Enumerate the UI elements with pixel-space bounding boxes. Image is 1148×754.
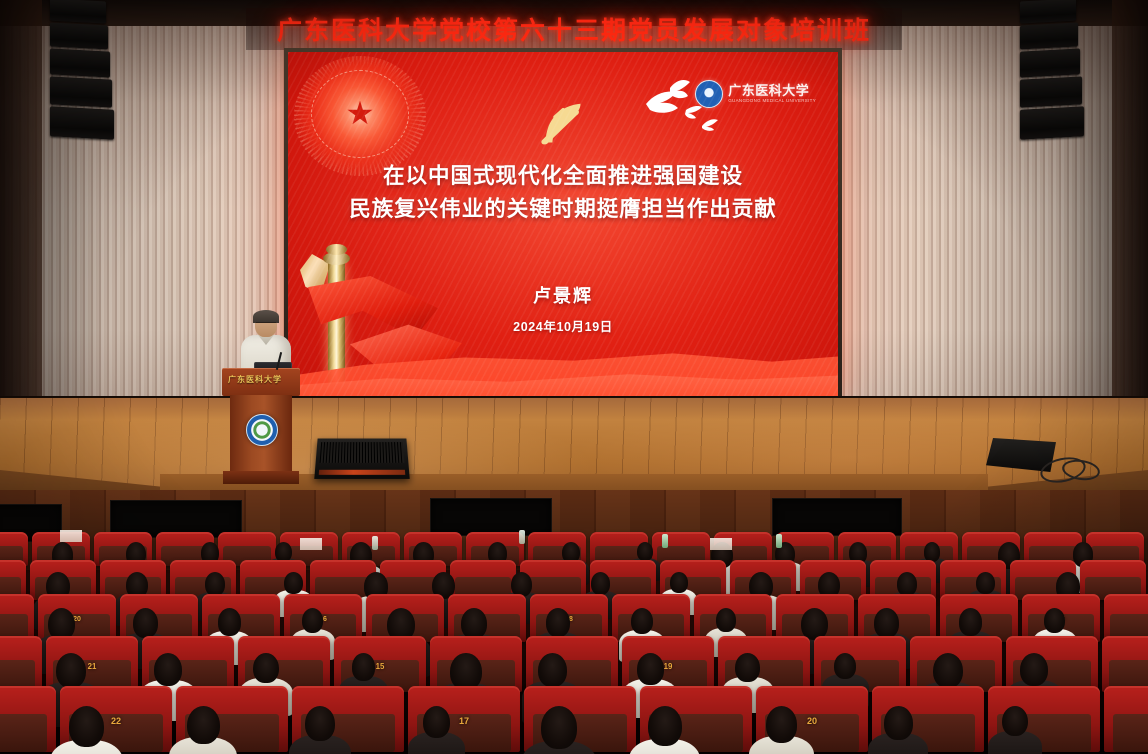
led-screen-frame: 广东医科大学 GUANGDONG MEDICAL UNIVERSITY 在以中国… xyxy=(284,48,842,400)
university-logo: 广东医科大学 GUANGDONG MEDICAL UNIVERSITY xyxy=(695,80,816,108)
audience-person-head xyxy=(897,572,917,596)
audience-person-head xyxy=(423,706,450,738)
name-card xyxy=(60,530,82,542)
audience-person-head xyxy=(1020,653,1048,686)
water-bottle xyxy=(662,534,668,548)
line-array-speaker-left xyxy=(50,0,112,140)
line-array-module xyxy=(50,0,106,23)
audience-person-head xyxy=(637,653,664,685)
slide-title-line2: 民族复兴伟业的关键时期挺膺担当作出贡献 xyxy=(288,193,838,226)
line-array-module xyxy=(50,76,112,107)
name-card xyxy=(710,538,732,550)
led-screen: 广东医科大学 GUANGDONG MEDICAL UNIVERSITY 在以中国… xyxy=(288,52,838,396)
red-star-starburst-icon xyxy=(294,56,426,176)
stage-monitor-left xyxy=(314,439,409,479)
audience-person-head xyxy=(133,608,158,638)
line-array-module xyxy=(1020,0,1076,23)
audience-person-head xyxy=(546,608,570,636)
line-array-module xyxy=(1020,22,1078,49)
audience-person-head xyxy=(154,653,182,686)
name-card xyxy=(300,538,322,550)
line-array-module xyxy=(50,48,110,77)
audience-person-head xyxy=(538,653,567,687)
audience-area: 2016182115211519221722172016 xyxy=(0,490,1148,754)
podium: 广东医科大学 xyxy=(222,368,300,488)
audience-person-head xyxy=(933,653,963,689)
university-emblem-icon xyxy=(695,80,723,108)
audience-person-head xyxy=(352,653,376,681)
audience-person-head xyxy=(541,706,577,749)
audience-person-head xyxy=(461,608,487,639)
audience-person-head xyxy=(253,653,279,683)
audience-person-head xyxy=(766,706,797,743)
line-array-module xyxy=(1020,76,1082,107)
audience-person-head xyxy=(305,706,335,741)
banner-backdrop xyxy=(246,8,902,50)
audience-person-head xyxy=(631,608,653,634)
audience-person-head xyxy=(959,608,982,635)
slide-title-line1: 在以中国式现代化全面推进强国建设 xyxy=(288,160,838,193)
audience-person-head xyxy=(69,706,104,747)
audience-person-head xyxy=(874,608,899,638)
audience-person-head xyxy=(670,572,688,593)
audience-person-head xyxy=(976,572,994,594)
audience-person-head xyxy=(187,706,220,744)
hammer-and-sickle-icon xyxy=(534,94,596,156)
audience-person-head xyxy=(716,608,736,632)
line-array-module xyxy=(1020,106,1084,139)
audience-person-head xyxy=(1002,706,1028,737)
podium-engraved-text: 广东医科大学 xyxy=(228,374,294,385)
audience-person-head xyxy=(591,572,610,595)
university-name-en: GUANGDONG MEDICAL UNIVERSITY xyxy=(728,99,816,104)
glasses-icon xyxy=(256,322,276,328)
audience-person-head xyxy=(1044,608,1065,633)
slide-title: 在以中国式现代化全面推进强国建设 民族复兴伟业的关键时期挺膺担当作出贡献 xyxy=(288,160,838,225)
water-bottle xyxy=(372,536,378,550)
university-name-cn: 广东医科大学 xyxy=(728,84,816,97)
water-bottle xyxy=(519,530,525,544)
audience-person-head xyxy=(450,653,481,690)
audience-person-head xyxy=(284,572,302,594)
audience-person-head xyxy=(56,653,86,689)
line-array-speaker-right xyxy=(1020,0,1082,140)
audience-people-row xyxy=(0,706,1148,754)
auditorium-scene: 广东医科大学党校第六十三期党员发展对象培训班 xyxy=(0,0,1148,754)
line-array-module xyxy=(50,22,108,49)
water-bottle xyxy=(776,534,782,548)
line-array-module xyxy=(50,106,114,139)
audience-person-head xyxy=(205,572,225,596)
audience-person-head xyxy=(218,608,241,635)
line-array-module xyxy=(1020,48,1080,77)
audience-person-head xyxy=(302,608,323,633)
audience-person-head xyxy=(834,653,856,679)
audience-person-head xyxy=(735,653,760,682)
audience-person-head xyxy=(648,706,682,746)
slide-date: 2024年10月19日 xyxy=(288,316,838,335)
audience-person-head xyxy=(884,706,913,740)
university-seal-icon xyxy=(246,414,278,446)
